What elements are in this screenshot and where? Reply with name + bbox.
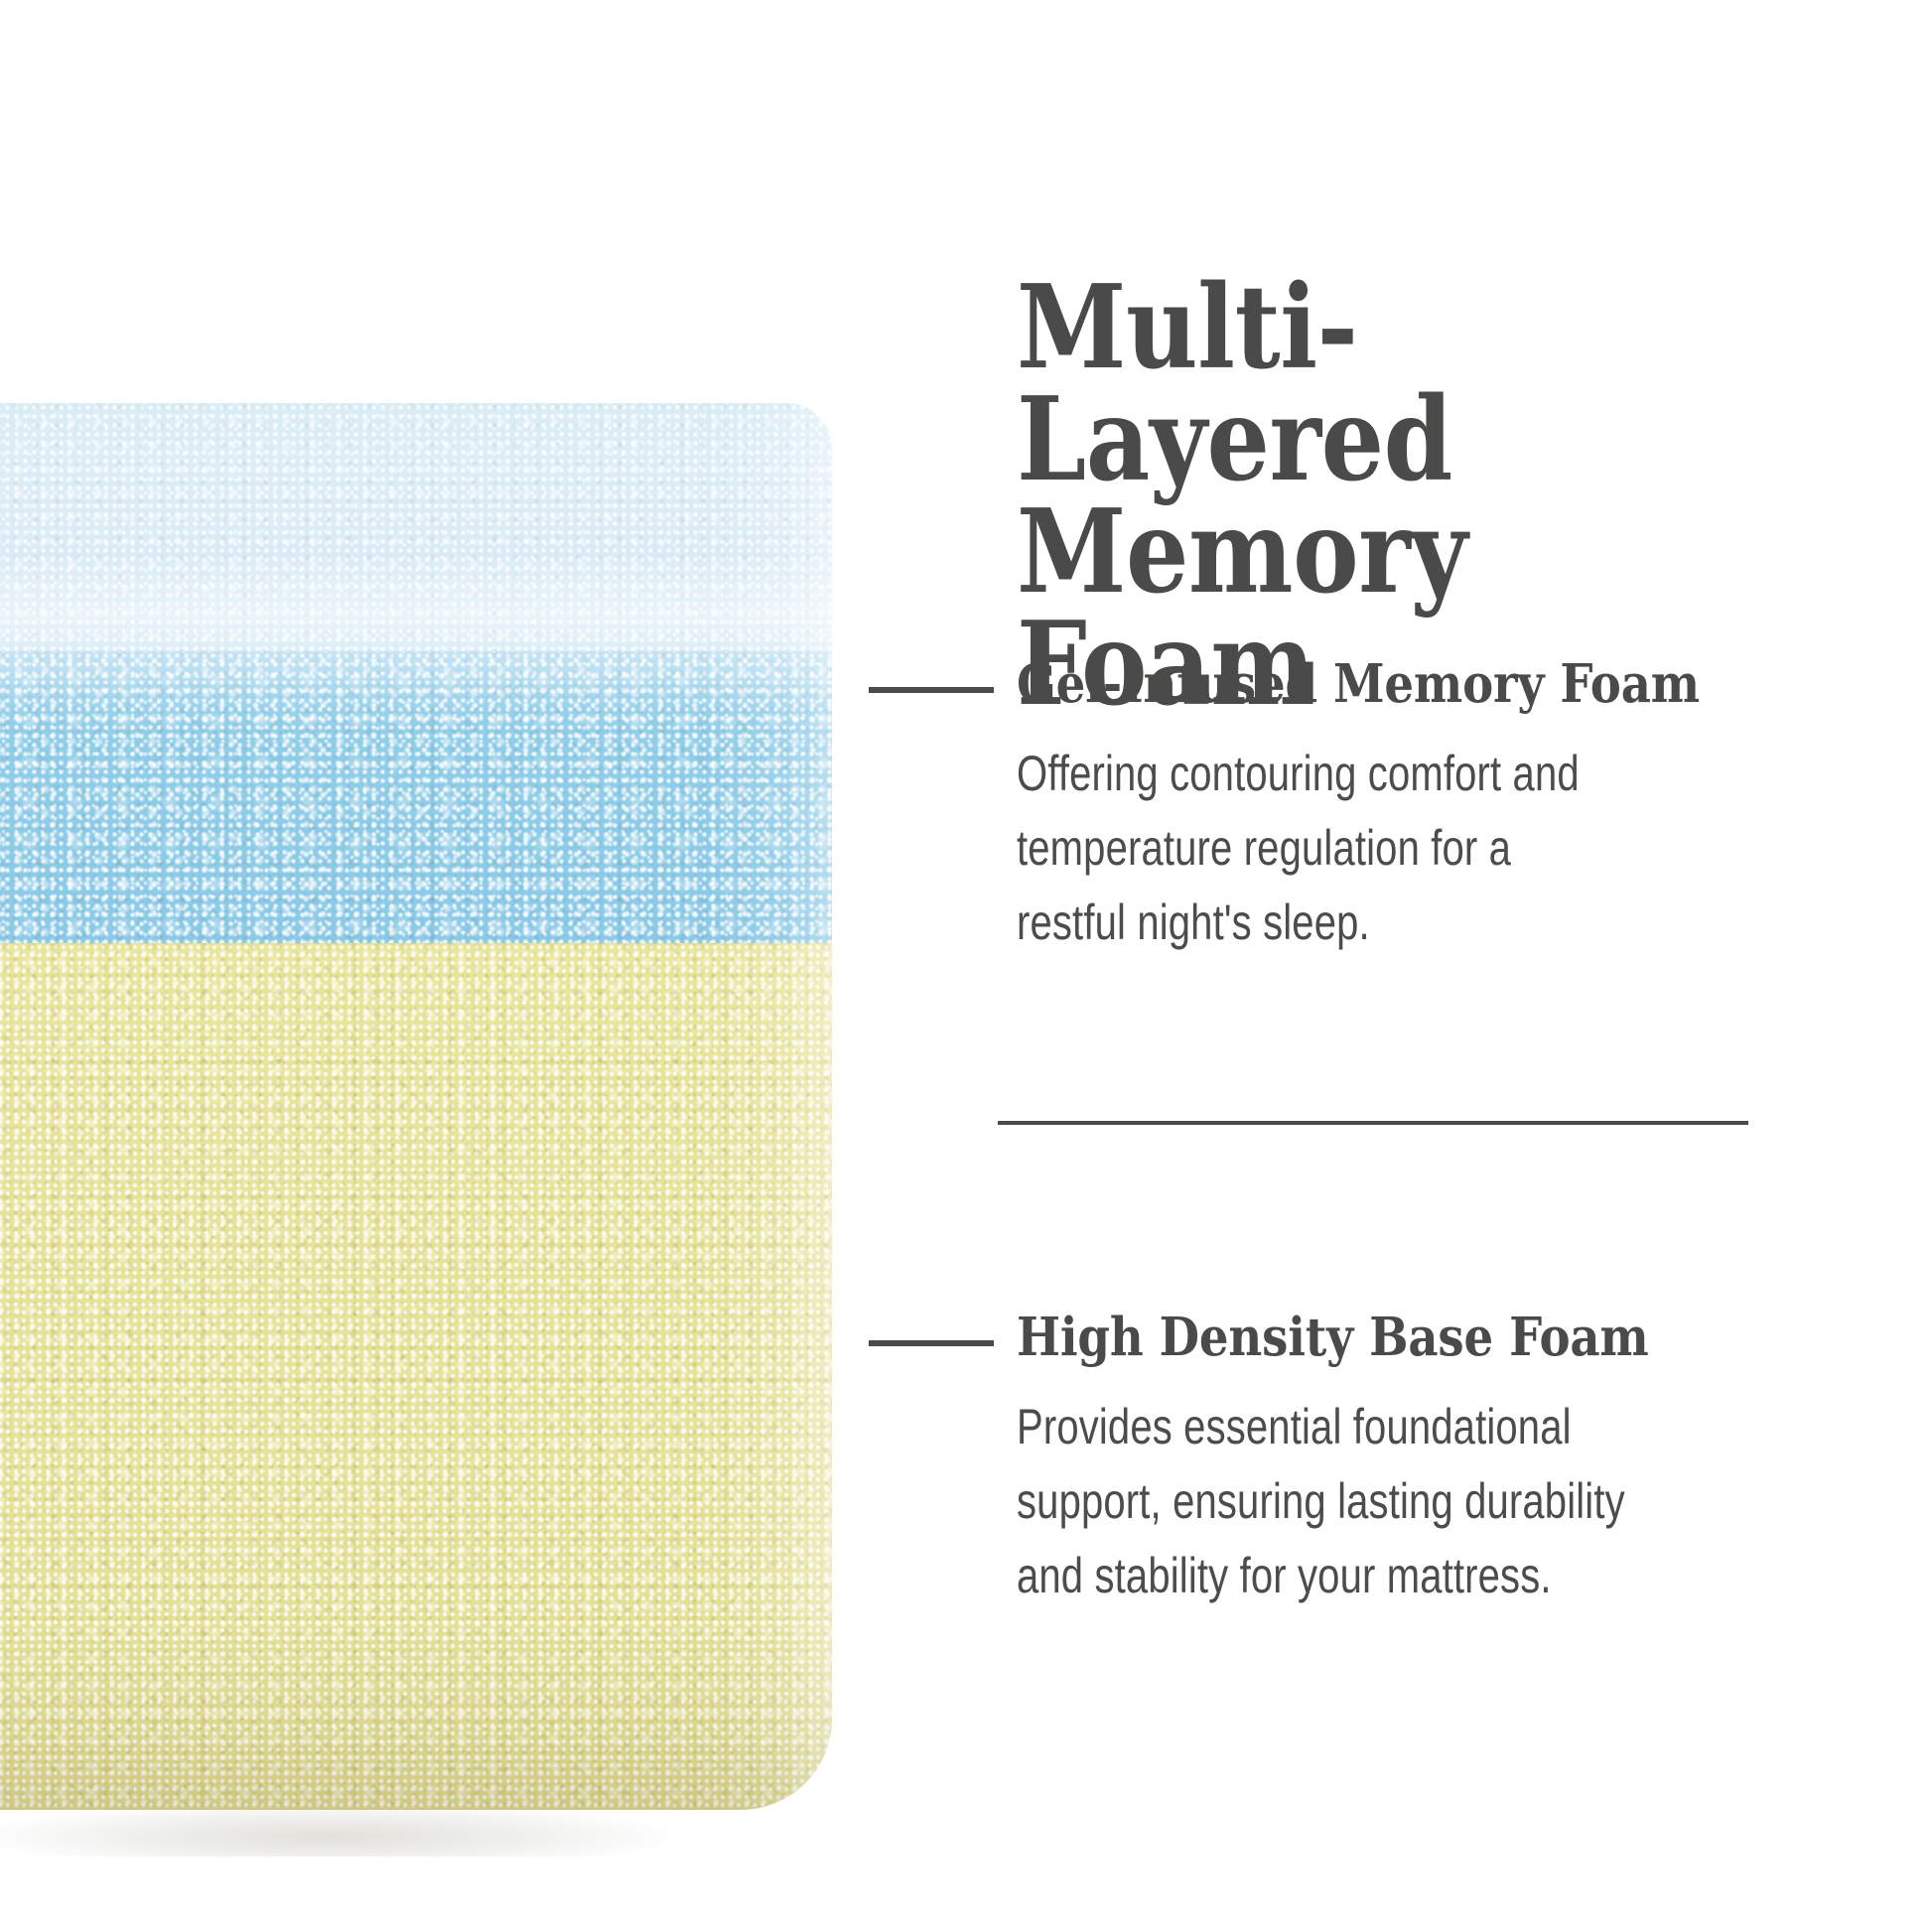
callout-high-density-base-foam: High Density Base Foam Provides essentia…	[1017, 1309, 1851, 1613]
foam-texture-mid-icon	[0, 651, 832, 943]
foam-texture-coarse-icon	[0, 651, 832, 943]
foam-layer-high-density-base-foam	[0, 943, 832, 1810]
foam-block-illustration	[0, 403, 832, 1810]
foam-texture-fine-icon	[0, 651, 832, 943]
leader-dash-icon	[869, 1340, 994, 1346]
content-column: Multi-Layered Memory Foam Gel-Infused Me…	[1017, 0, 1870, 1932]
callout-heading-gel-infused-memory-foam: Gel-Infused Memory Foam	[1017, 655, 1750, 713]
foam-texture-fine-icon	[0, 943, 832, 1810]
infographic-canvas: Multi-Layered Memory Foam Gel-Infused Me…	[0, 0, 1932, 1932]
foam-layer-gel-infused-memory-foam	[0, 651, 832, 943]
callout-gel-infused-memory-foam: Gel-Infused Memory Foam Offering contour…	[1017, 655, 1851, 960]
callout-heading-high-density-base-foam: High Density Base Foam	[1017, 1309, 1750, 1366]
foam-texture-coarse-icon	[0, 943, 832, 1810]
foam-texture-fine-icon	[0, 403, 832, 651]
foam-texture-coarse-icon	[0, 403, 832, 651]
leader-dash-icon	[869, 687, 994, 693]
callout-body-high-density-base-foam: Provides essential foundational support,…	[1017, 1366, 1866, 1613]
foam-texture-macro-icon	[0, 651, 832, 943]
callout-body-gel-infused-memory-foam: Offering contouring comfort and temperat…	[1017, 713, 1866, 960]
foam-bottom-shading	[0, 1621, 832, 1810]
section-divider	[998, 1121, 1748, 1125]
foam-texture-mid-icon	[0, 943, 832, 1810]
foam-layer-gel-top-surface	[0, 403, 832, 651]
